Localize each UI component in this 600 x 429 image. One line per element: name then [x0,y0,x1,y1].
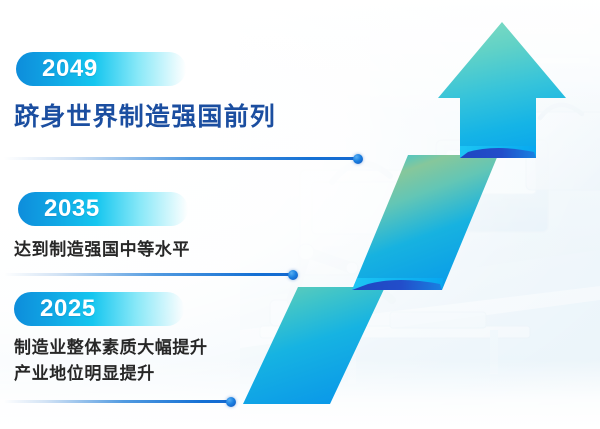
connector-line-2035 [4,273,297,276]
connector-dot-icon [353,154,363,164]
year-label: 2025 [40,292,158,326]
milestone-2035: 2035 达到制造强国中等水平 [0,192,190,262]
arrow-segment-bottom [243,287,385,404]
connector-stroke [4,273,297,276]
milestone-2049: 2049 跻身世界制造强国前列 [0,52,276,133]
connector-stroke [4,400,235,403]
year-label: 2049 [42,52,160,86]
milestone-headline: 跻身世界制造强国前列 [14,97,276,133]
connector-dot-icon [226,397,236,407]
connector-dot-icon [288,270,298,280]
banner-canvas: 2049 跻身世界制造强国前列 2035 达到制造强国中等水平 2025 制造业… [0,0,600,429]
milestone-line-1: 制造业整体素质大幅提升 [14,336,208,360]
year-badge-2049[interactable]: 2049 [16,52,186,86]
connector-stroke [4,157,362,160]
milestone-line-1: 达到制造强国中等水平 [14,238,190,262]
milestone-2025: 2025 制造业整体素质大幅提升 产业地位明显提升 [0,292,208,386]
arrow-segment-top [438,22,566,158]
connector-line-2049 [4,157,362,160]
milestone-line-2: 产业地位明显提升 [14,362,208,386]
year-badge-2025[interactable]: 2025 [14,292,184,326]
year-label: 2035 [44,192,162,226]
year-badge-2035[interactable]: 2035 [18,192,188,226]
arrow-segment-middle [352,155,498,290]
connector-line-2025 [4,400,235,403]
